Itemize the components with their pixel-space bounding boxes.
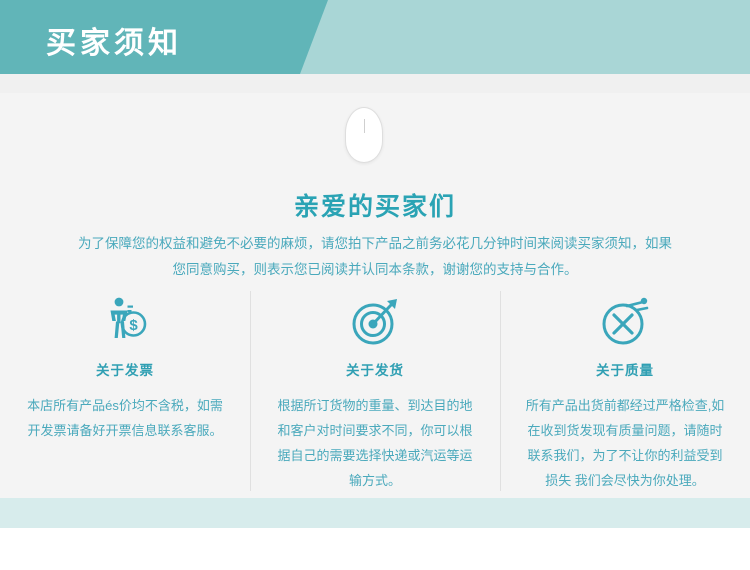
quality-broken-tool-icon [522,291,728,353]
bottom-whitespace [0,528,750,570]
mouse-body [345,107,383,163]
page-title: 买家须知 [46,18,182,62]
column-text: 所有产品出货前都经过严格检查,如在收到货发现有质量问题，请随时联系我们，为了不让… [522,393,728,493]
column-title: 关于发货 [272,359,478,379]
main-panel: 亲爱的买家们 为了保障您的权益和避免不必要的麻烦，请您拍下产品之前务必花几分钟时… [0,93,750,498]
info-column-invoice: $ 关于发票 本店所有产品és价均不含税，如需开发票请备好开票信息联系客服。 [0,291,250,491]
invoice-person-dollar-icon: $ [22,291,228,353]
bottom-accent-band [0,498,750,528]
svg-text:$: $ [129,317,138,334]
mouse-scroll-line [364,119,365,133]
main-heading: 亲爱的买家们 [0,187,750,223]
column-title: 关于发票 [22,359,228,379]
column-text: 根据所订货物的重量、到达目的地和客户对时间要求不同，你可以根据自己的需要选择快递… [272,393,478,493]
target-arrow-icon [272,291,478,353]
info-columns: $ 关于发票 本店所有产品és价均不含税，如需开发票请备好开票信息联系客服。 [0,291,750,491]
info-column-quality: 关于质量 所有产品出货前都经过严格检查,如在收到货发现有质量问题，请随时联系我们… [500,291,750,491]
computer-mouse-icon [337,107,391,165]
info-column-shipping: 关于发货 根据所订货物的重量、到达目的地和客户对时间要求不同，你可以根据自己的需… [250,291,500,491]
header-divider [0,74,750,93]
column-text: 本店所有产品és价均不含税，如需开发票请备好开票信息联系客服。 [22,393,228,443]
header-ribbon-tail [300,0,328,74]
column-title: 关于质量 [522,359,728,379]
notice-page: 买家须知 亲爱的买家们 为了保障您的权益和避免不必要的麻烦，请您拍下产品之前务必… [0,0,750,570]
intro-paragraph: 为了保障您的权益和避免不必要的麻烦，请您拍下产品之前务必花几分钟时间来阅读买家须… [75,231,675,283]
